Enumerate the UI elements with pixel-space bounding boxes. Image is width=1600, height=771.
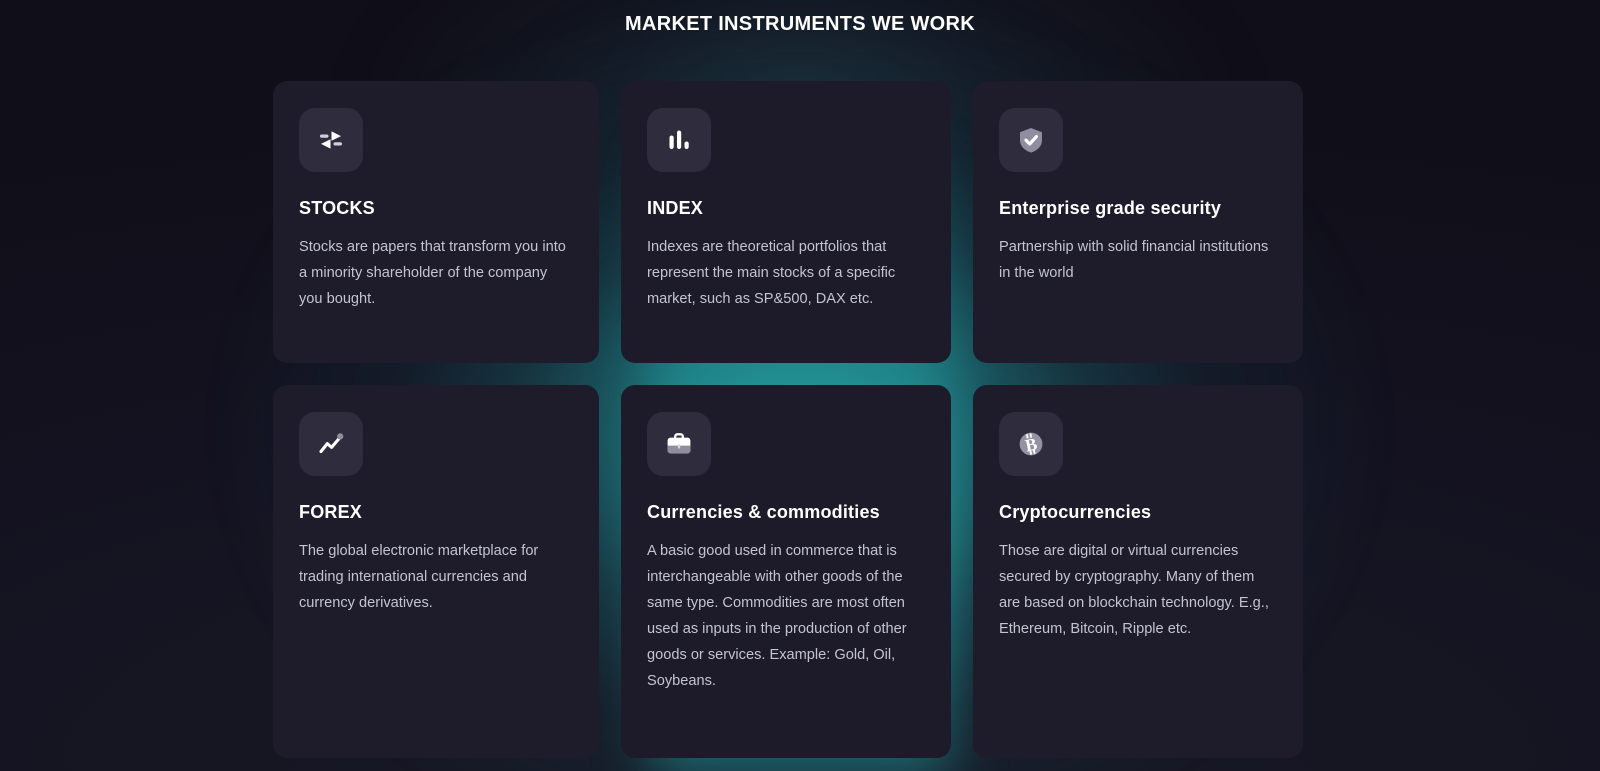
icon-tile-forex bbox=[299, 412, 363, 476]
icon-tile-cryptocurrencies: B bbox=[999, 412, 1063, 476]
market-instruments-section: MARKET INSTRUMENTS WE WORK STOCKS Stocks… bbox=[0, 0, 1600, 771]
card-title: Cryptocurrencies bbox=[999, 502, 1277, 523]
bitcoin-icon: B bbox=[1015, 428, 1047, 460]
card-title: STOCKS bbox=[299, 198, 573, 219]
card-body: A basic good used in commerce that is in… bbox=[647, 538, 923, 694]
card-currencies-and-commodities[interactable]: Currencies & commodities A basic good us… bbox=[621, 385, 951, 758]
card-title: FOREX bbox=[299, 502, 573, 523]
card-index[interactable]: INDEX Indexes are theoretical portfolios… bbox=[621, 81, 951, 363]
instrument-card-grid: STOCKS Stocks are papers that transform … bbox=[273, 81, 1305, 758]
card-title: Currencies & commodities bbox=[647, 502, 925, 523]
page-title: MARKET INSTRUMENTS WE WORK bbox=[0, 13, 1600, 36]
icon-tile-enterprise-grade-security bbox=[999, 108, 1063, 172]
card-enterprise-grade-security[interactable]: Enterprise grade security Partnership wi… bbox=[973, 81, 1303, 363]
card-title: Enterprise grade security bbox=[999, 198, 1277, 219]
card-body: Indexes are theoretical portfolios that … bbox=[647, 234, 923, 312]
exchange-arrows-icon bbox=[315, 124, 347, 156]
card-cryptocurrencies[interactable]: B Cryptocurrencies Those are digital or … bbox=[973, 385, 1303, 758]
card-stocks[interactable]: STOCKS Stocks are papers that transform … bbox=[273, 81, 599, 363]
card-body: Partnership with solid financial institu… bbox=[999, 234, 1277, 286]
card-forex[interactable]: FOREX The global electronic marketplace … bbox=[273, 385, 599, 758]
icon-tile-stocks bbox=[299, 108, 363, 172]
trending-up-icon bbox=[315, 428, 347, 460]
card-title: INDEX bbox=[647, 198, 925, 219]
bar-chart-icon bbox=[663, 124, 695, 156]
card-body: Stocks are papers that transform you int… bbox=[299, 234, 573, 312]
briefcase-icon bbox=[663, 428, 695, 460]
card-body: The global electronic marketplace for tr… bbox=[299, 538, 573, 616]
shield-check-icon bbox=[1015, 124, 1047, 156]
icon-tile-currencies-and-commodities bbox=[647, 412, 711, 476]
card-body: Those are digital or virtual currencies … bbox=[999, 538, 1275, 642]
icon-tile-index bbox=[647, 108, 711, 172]
